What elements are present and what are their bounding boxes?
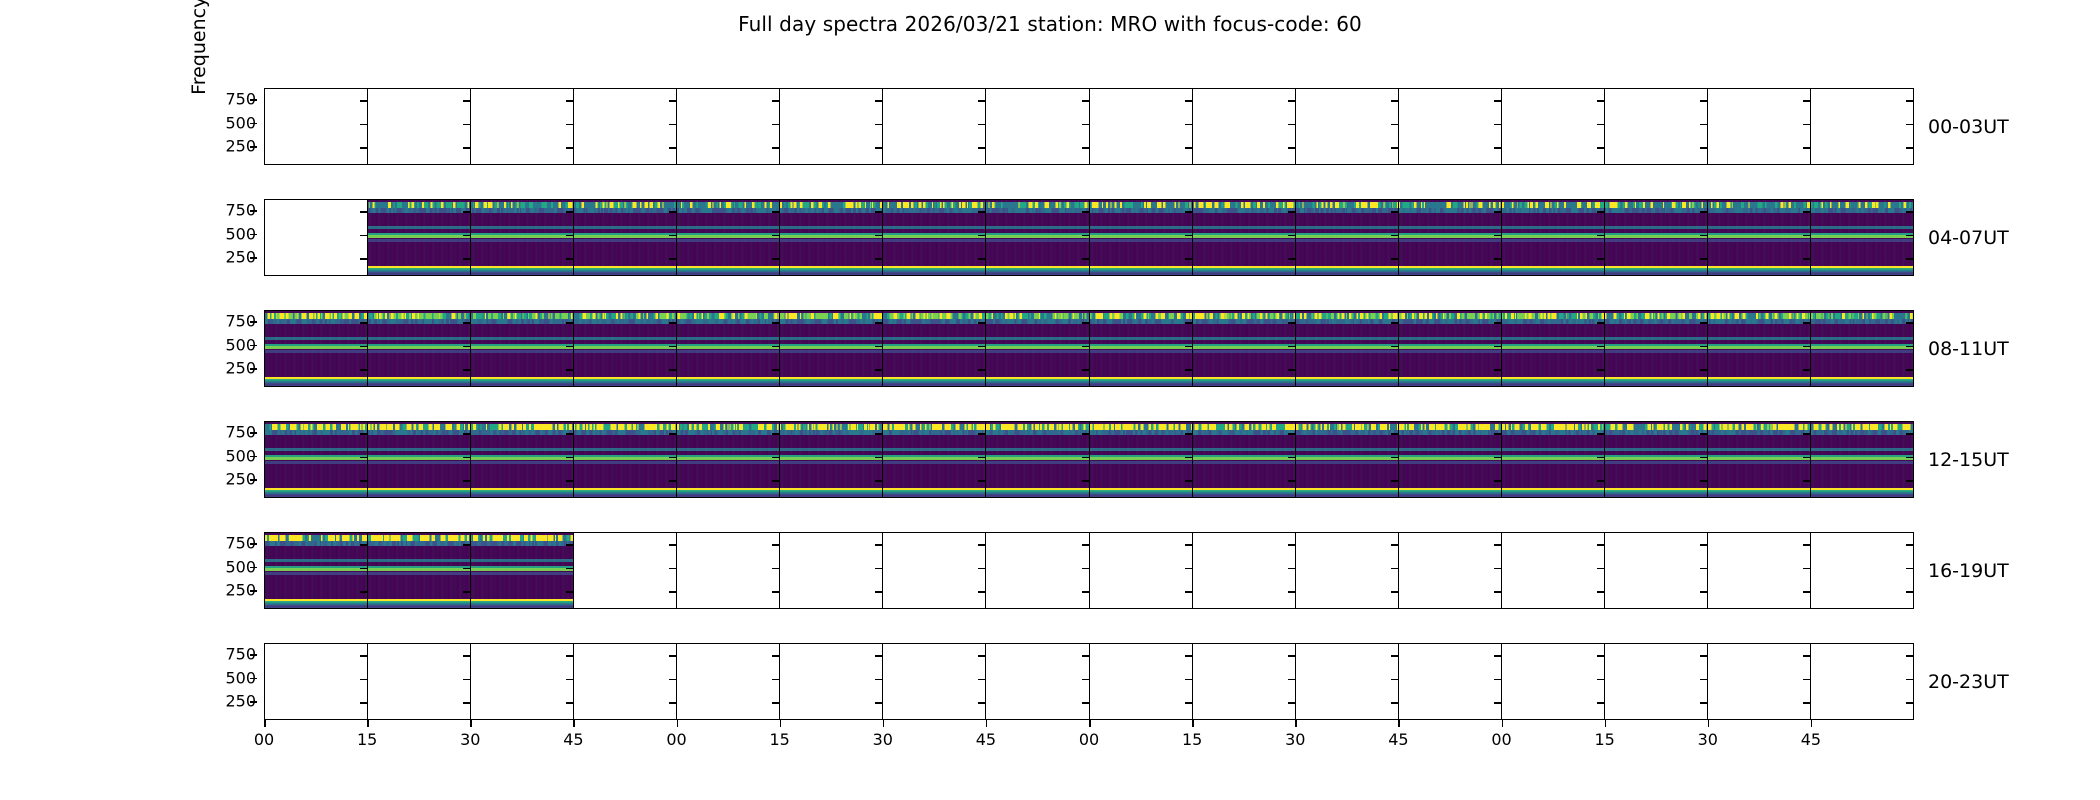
spectrogram-cell[interactable] (1810, 310, 1914, 387)
spectrogram-cell[interactable] (470, 310, 573, 387)
y-tick-mark (875, 100, 882, 102)
spectral-band (883, 496, 985, 498)
y-tick-mark (1391, 655, 1398, 657)
y-tick-mark (566, 124, 573, 126)
x-tick-label: 45 (563, 730, 583, 749)
spectral-band (1708, 448, 1810, 451)
spectral-band (1296, 208, 1398, 213)
y-tick-mark (1597, 100, 1604, 102)
spectral-band (986, 319, 1088, 324)
spectrogram-cell[interactable] (1604, 532, 1707, 609)
spectral-band (265, 385, 367, 387)
spectrogram-cell[interactable] (779, 310, 882, 387)
row-label-20-23ut: 20-23UT (1928, 671, 2009, 693)
spectrogram-cell[interactable] (367, 532, 470, 609)
spectrogram-cell[interactable] (1398, 310, 1501, 387)
y-tick-mark (1494, 480, 1501, 482)
spectral-band (1193, 496, 1295, 498)
spectrogram-cell[interactable] (1707, 199, 1810, 276)
spectrogram-cell[interactable] (1501, 88, 1604, 165)
spectrogram-cell[interactable] (882, 88, 985, 165)
y-tick-mark (978, 591, 985, 593)
spectrogram-cell[interactable] (1604, 310, 1707, 387)
spectrogram-cell[interactable] (264, 199, 367, 276)
y-tick-mark (1906, 211, 1913, 213)
y-tick-mark (1391, 433, 1398, 435)
spectrogram-cell[interactable] (470, 88, 573, 165)
y-tick-mark (1494, 322, 1501, 324)
y-tick-mark (978, 346, 985, 348)
y-tick-mark (1597, 679, 1604, 681)
spectral-band (883, 239, 985, 242)
y-tick-mark (1391, 702, 1398, 704)
spectrogram-image (677, 422, 779, 497)
spectrogram-image (368, 422, 470, 497)
spectrogram-cell[interactable] (1501, 532, 1604, 609)
spectrogram-cell[interactable] (1192, 421, 1295, 498)
spectrogram-cell[interactable] (1707, 310, 1810, 387)
spectral-band (677, 346, 779, 349)
y-tick-mark (463, 655, 470, 657)
spectrogram-cell[interactable] (367, 643, 470, 720)
spectral-band (1193, 319, 1295, 324)
spectrogram-cell[interactable] (1192, 643, 1295, 720)
y-tick-mark (669, 480, 676, 482)
spectrogram-cell[interactable] (676, 643, 779, 720)
y-tick-mark (1494, 544, 1501, 546)
y-tick-mark (1597, 235, 1604, 237)
y-tick-mark (463, 211, 470, 213)
y-tick-mark (978, 702, 985, 704)
spectrogram-cell[interactable] (1089, 532, 1192, 609)
spectral-band (1502, 226, 1604, 229)
spectrogram-image (986, 422, 1088, 497)
spectrogram-cell[interactable] (1398, 532, 1501, 609)
y-tick-mark (360, 369, 367, 371)
spectral-band (1811, 350, 1913, 353)
spectrogram-cell[interactable] (264, 88, 367, 165)
spectral-band (574, 496, 676, 498)
x-tick-mark (1811, 720, 1813, 727)
y-tick-mark (360, 433, 367, 435)
spectrogram-cell[interactable] (882, 199, 985, 276)
spectral-band (1605, 319, 1707, 324)
spectral-band (574, 239, 676, 242)
y-tick-mark (250, 701, 257, 703)
spectrogram-cell[interactable] (573, 532, 676, 609)
x-tick-mark (1089, 720, 1091, 727)
spectral-band (1193, 239, 1295, 242)
y-tick-mark (463, 124, 470, 126)
spectrogram-cell[interactable] (1707, 532, 1810, 609)
spectral-band (1708, 430, 1810, 435)
spectrogram-cell[interactable] (573, 310, 676, 387)
spectral-band (1605, 461, 1707, 464)
y-tick-mark (669, 235, 676, 237)
spectral-band (368, 235, 470, 238)
spectrogram-cell[interactable] (985, 199, 1088, 276)
spectral-band (1399, 385, 1501, 387)
y-tick-mark (1391, 369, 1398, 371)
spectral-band (1811, 337, 1913, 340)
spectrogram-cell[interactable] (1604, 88, 1707, 165)
spectrogram-cell[interactable] (1501, 643, 1604, 720)
spectrogram-image (1708, 200, 1810, 275)
y-tick-mark (360, 258, 367, 260)
y-tick-mark (1803, 124, 1810, 126)
spectrogram-image (1708, 311, 1810, 386)
y-tick-mark (1906, 591, 1913, 593)
spectral-band (368, 559, 470, 562)
spectral-band (1605, 385, 1707, 387)
spectrogram-cell[interactable] (573, 421, 676, 498)
spectral-band (368, 607, 470, 609)
spectrogram-image (1605, 311, 1707, 386)
spectral-band (780, 208, 882, 213)
spectrogram-cell[interactable] (1089, 643, 1192, 720)
spectrogram-cell[interactable] (882, 532, 985, 609)
spectral-band (986, 385, 1088, 387)
spectrogram-cell[interactable] (264, 532, 367, 609)
spectrogram-cell[interactable] (882, 310, 985, 387)
y-tick-mark (875, 480, 882, 482)
y-tick-mark (772, 591, 779, 593)
spectral-band (368, 226, 470, 229)
spectrogram-cell[interactable] (1192, 88, 1295, 165)
y-tick-mark (463, 568, 470, 570)
spectrogram-cell[interactable] (1810, 421, 1914, 498)
spectrogram-cell[interactable] (573, 199, 676, 276)
spectrogram-cell[interactable] (470, 532, 573, 609)
spectral-band (1811, 430, 1913, 435)
y-tick-mark (669, 655, 676, 657)
y-tick-mark (1185, 433, 1192, 435)
spectral-band (1399, 235, 1501, 238)
y-tick-mark (1700, 702, 1707, 704)
spectrogram-cell[interactable] (985, 532, 1088, 609)
spectral-band (1193, 274, 1295, 276)
spectrogram-cell[interactable] (367, 421, 470, 498)
spectral-band (1090, 385, 1192, 387)
spectrogram-cell[interactable] (1295, 310, 1398, 387)
spectrogram-cell[interactable] (676, 421, 779, 498)
y-tick-mark (360, 211, 367, 213)
spectral-band (368, 385, 470, 387)
y-tick-mark (669, 544, 676, 546)
y-tick-mark (1906, 433, 1913, 435)
spectral-band (1502, 496, 1604, 498)
spectrogram-cell[interactable] (985, 88, 1088, 165)
y-tick-mark (1700, 655, 1707, 657)
spectrogram-image (1399, 311, 1501, 386)
spectrogram-image (1502, 422, 1604, 497)
spectral-band (1193, 208, 1295, 213)
spectral-band (1399, 337, 1501, 340)
spectral-band (574, 226, 676, 229)
spectrogram-cell[interactable] (1192, 532, 1295, 609)
spectrogram-cell[interactable] (367, 310, 470, 387)
spectral-band (368, 346, 470, 349)
spectrogram-cell[interactable] (1295, 88, 1398, 165)
x-tick-label: 15 (1594, 730, 1614, 749)
spectrogram-image (368, 200, 470, 275)
spectral-band (883, 235, 985, 238)
y-tick-mark (669, 100, 676, 102)
spectral-band (265, 457, 367, 460)
y-tick-mark (1803, 480, 1810, 482)
x-tick-label: 45 (976, 730, 996, 749)
spectrogram-cell[interactable] (1295, 643, 1398, 720)
spectrogram-cell[interactable] (1707, 643, 1810, 720)
spectrogram-cell[interactable] (1604, 421, 1707, 498)
spectral-band (986, 448, 1088, 451)
y-tick-mark (1597, 568, 1604, 570)
spectral-band (368, 430, 470, 435)
y-tick-mark (463, 369, 470, 371)
spectral-band (1090, 350, 1192, 353)
x-tick-mark (367, 720, 369, 727)
y-tick-mark (566, 322, 573, 324)
spectrogram-image (368, 311, 470, 386)
y-tick-mark (1185, 211, 1192, 213)
y-tick-mark (875, 655, 882, 657)
y-tick-mark (1082, 480, 1089, 482)
y-tick-mark (250, 368, 257, 370)
y-tick-mark (772, 369, 779, 371)
spectral-band (883, 385, 985, 387)
spectrogram-cell[interactable] (676, 199, 779, 276)
y-tick-mark (1494, 457, 1501, 459)
spectral-band (883, 319, 985, 324)
spectrogram-cell[interactable] (985, 421, 1088, 498)
spectral-band (471, 457, 573, 460)
y-tick-mark (566, 655, 573, 657)
spectral-band (265, 337, 367, 340)
y-tick-mark (1597, 322, 1604, 324)
y-tick-mark (1597, 480, 1604, 482)
y-tick-mark (1391, 100, 1398, 102)
spectral-band (1399, 319, 1501, 324)
spectrogram-cell[interactable] (882, 643, 985, 720)
spectrogram-cell[interactable] (470, 643, 573, 720)
spectrogram-cell[interactable] (1707, 88, 1810, 165)
spectral-band (1605, 457, 1707, 460)
spectrogram-cell[interactable] (1398, 421, 1501, 498)
spectrogram-figure: Full day spectra 2026/03/21 station: MRO… (0, 0, 2100, 800)
spectrogram-cell[interactable] (985, 310, 1088, 387)
y-tick-mark (1288, 544, 1295, 546)
spectral-band (1502, 457, 1604, 460)
spectral-band (1502, 346, 1604, 349)
spectrogram-cell[interactable] (779, 88, 882, 165)
spectrogram-cell[interactable] (676, 310, 779, 387)
spectrogram-image (986, 200, 1088, 275)
spectral-band (1708, 346, 1810, 349)
x-tick-mark (1502, 720, 1504, 727)
spectrogram-image (574, 311, 676, 386)
y-tick-mark (250, 146, 257, 148)
y-tick-mark (1700, 369, 1707, 371)
spectrogram-cell[interactable] (1192, 310, 1295, 387)
y-tick-mark (1803, 369, 1810, 371)
spectrogram-cell[interactable] (367, 88, 470, 165)
spectral-band (471, 568, 573, 571)
spectral-band (1708, 319, 1810, 324)
spectrogram-cell[interactable] (1192, 199, 1295, 276)
spectral-band (1193, 346, 1295, 349)
spectral-band (265, 541, 367, 546)
y-tick-mark (669, 433, 676, 435)
spectral-band (986, 461, 1088, 464)
spectral-band (1296, 337, 1398, 340)
y-tick-mark (978, 457, 985, 459)
spectrogram-cell[interactable] (676, 532, 779, 609)
spectral-band (471, 385, 573, 387)
x-tick-mark (677, 720, 679, 727)
y-tick-mark (875, 679, 882, 681)
y-tick-mark (772, 544, 779, 546)
spectrogram-cell[interactable] (779, 643, 882, 720)
y-tick-mark (1288, 100, 1295, 102)
spectral-band (883, 337, 985, 340)
spectrogram-cell[interactable] (1501, 421, 1604, 498)
spectrogram-image (574, 422, 676, 497)
spectrogram-cell[interactable] (1707, 421, 1810, 498)
spectral-band (780, 457, 882, 460)
y-tick-mark (250, 345, 257, 347)
y-tick-mark (1288, 258, 1295, 260)
spectral-band (1090, 235, 1192, 238)
y-tick-mark (1906, 480, 1913, 482)
spectrogram-cell[interactable] (1501, 310, 1604, 387)
spectrogram-cell[interactable] (470, 199, 573, 276)
y-tick-mark (1597, 258, 1604, 260)
spectrogram-image (1296, 200, 1398, 275)
y-tick-mark (875, 457, 882, 459)
spectrogram-cell[interactable] (470, 421, 573, 498)
spectral-band (1605, 337, 1707, 340)
spectrogram-cell[interactable] (1604, 199, 1707, 276)
x-tick-label: 15 (357, 730, 377, 749)
y-tick-mark (1185, 258, 1192, 260)
y-tick-mark (669, 147, 676, 149)
spectrogram-cell[interactable] (367, 199, 470, 276)
spectrogram-cell[interactable] (1089, 199, 1192, 276)
spectrogram-cell[interactable] (1604, 643, 1707, 720)
spectral-band (1605, 430, 1707, 435)
spectrogram-cell[interactable] (676, 88, 779, 165)
y-tick-mark (360, 568, 367, 570)
spectrogram-cell[interactable] (264, 421, 367, 498)
x-tick-label: 45 (1388, 730, 1408, 749)
spectral-band (677, 226, 779, 229)
spectrogram-cell[interactable] (985, 643, 1088, 720)
spectrogram-image (1708, 422, 1810, 497)
y-tick-mark (875, 147, 882, 149)
spectral-band (471, 430, 573, 435)
spectrogram-cell[interactable] (1810, 88, 1914, 165)
spectral-band (1502, 208, 1604, 213)
spectrogram-cell[interactable] (573, 643, 676, 720)
spectrogram-cell[interactable] (1089, 421, 1192, 498)
spectral-band (1399, 448, 1501, 451)
y-tick-mark (463, 346, 470, 348)
spectral-band (883, 226, 985, 229)
spectral-band (574, 337, 676, 340)
spectrogram-cell[interactable] (779, 421, 882, 498)
spectral-band (780, 430, 882, 435)
spectrogram-cell[interactable] (1810, 643, 1914, 720)
spectrogram-cell[interactable] (573, 88, 676, 165)
y-tick-mark (978, 235, 985, 237)
y-tick-mark (1803, 568, 1810, 570)
y-tick-mark (463, 679, 470, 681)
y-tick-mark (1803, 655, 1810, 657)
spectral-band (1296, 448, 1398, 451)
spectrogram-cell[interactable] (1089, 310, 1192, 387)
spectral-band (368, 461, 470, 464)
spectrogram-cell[interactable] (264, 310, 367, 387)
spectral-band (1708, 226, 1810, 229)
y-tick-mark (875, 702, 882, 704)
spectral-band (1090, 448, 1192, 451)
spectrogram-cell[interactable] (1295, 421, 1398, 498)
spectrogram-cell[interactable] (1810, 199, 1914, 276)
y-tick-mark (1494, 655, 1501, 657)
spectrogram-cell[interactable] (1398, 88, 1501, 165)
spectrogram-cell[interactable] (779, 532, 882, 609)
y-tick-mark (566, 258, 573, 260)
spectrogram-cell[interactable] (264, 643, 367, 720)
spectrogram-cell[interactable] (882, 421, 985, 498)
spectral-band (1090, 319, 1192, 324)
y-tick-mark (978, 322, 985, 324)
spectral-band (471, 572, 573, 575)
y-tick-mark (1494, 433, 1501, 435)
spectral-band (1811, 226, 1913, 229)
spectral-band (471, 239, 573, 242)
y-tick-mark (1803, 544, 1810, 546)
y-tick-mark (772, 124, 779, 126)
spectral-band (1193, 337, 1295, 340)
spectral-band (1811, 208, 1913, 213)
spectral-band (265, 572, 367, 575)
x-tick-mark (1295, 720, 1297, 727)
spectrogram-cell[interactable] (1089, 88, 1192, 165)
y-tick-mark (360, 100, 367, 102)
spectrogram-cell[interactable] (1810, 532, 1914, 609)
spectral-band (1811, 496, 1913, 498)
y-tick-mark (1185, 480, 1192, 482)
spectral-band (1399, 461, 1501, 464)
spectrogram-cell[interactable] (1295, 532, 1398, 609)
y-tick-mark (1597, 702, 1604, 704)
spectrogram-image (883, 311, 985, 386)
y-tick-mark (1185, 322, 1192, 324)
spectral-band (1502, 337, 1604, 340)
y-tick-mark (566, 211, 573, 213)
spectrogram-cell[interactable] (779, 199, 882, 276)
spectrogram-cell[interactable] (1398, 643, 1501, 720)
spectrogram-cell[interactable] (1398, 199, 1501, 276)
spectral-band (1193, 235, 1295, 238)
spectrogram-cell[interactable] (1501, 199, 1604, 276)
y-tick-mark (978, 544, 985, 546)
spectrogram-cell[interactable] (1295, 199, 1398, 276)
y-tick-mark (360, 679, 367, 681)
y-tick-mark (1082, 568, 1089, 570)
spectral-band (1090, 337, 1192, 340)
